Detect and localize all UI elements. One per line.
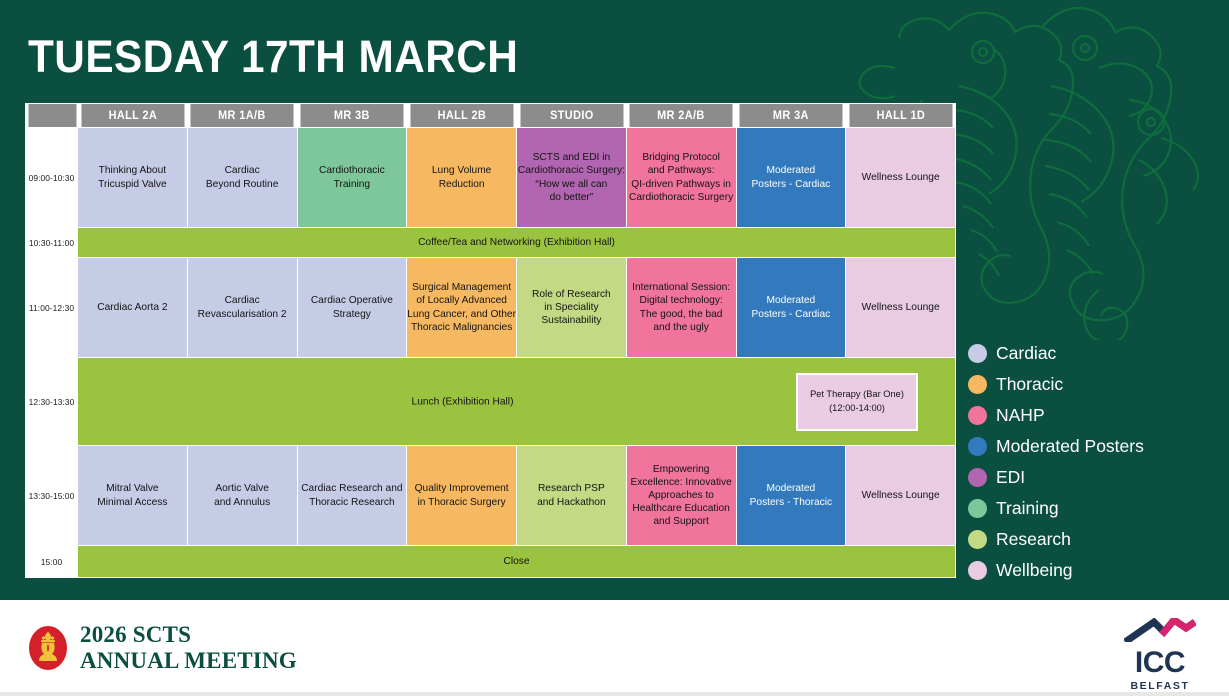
session-line: Bridging Protocol <box>627 151 736 164</box>
break-cell: Close <box>78 546 956 578</box>
session-line: and Pathways: <box>627 164 736 177</box>
session-line: Sustainability <box>517 314 626 327</box>
schedule-table: HALL 2A MR 1A/B MR 3B HALL 2B STUDIO MR … <box>25 103 956 578</box>
legend-color-swatch-icon <box>968 530 987 549</box>
room-header-hall-1d: HALL 1D <box>848 104 952 128</box>
room-header-studio: STUDIO <box>519 104 623 128</box>
schedule-row: 09:00-10:30Thinking AboutTricuspid Valve… <box>26 128 956 228</box>
legend-label: NAHP <box>996 405 1045 426</box>
scts-logo: 2026 SCTS ANNUAL MEETING <box>28 622 297 674</box>
legend-item: EDI <box>968 462 1218 493</box>
break-cell: Coffee/Tea and Networking (Exhibition Ha… <box>78 228 956 258</box>
icc-swoosh-icon <box>1124 618 1196 642</box>
session-line: of Locally Advanced <box>407 294 516 307</box>
legend-color-swatch-icon <box>968 437 987 456</box>
session-line: Strategy <box>298 308 407 321</box>
legend-label: Cardiac <box>996 343 1056 364</box>
session-line: Posters - Thoracic <box>737 496 846 509</box>
session-line: Tricuspid Valve <box>78 178 187 191</box>
time-column-header <box>27 104 76 128</box>
session-line: Surgical Management <box>407 281 516 294</box>
session-line: Revascularisation 2 <box>188 308 297 321</box>
icc-wordmark: ICC <box>1117 648 1203 678</box>
schedule-row: 15:00Close <box>26 546 956 578</box>
legend-color-swatch-icon <box>968 375 987 394</box>
session-line: Reduction <box>407 178 516 191</box>
session-line: Cardiac Research and <box>298 482 407 495</box>
session-cell[interactable]: SCTS and EDI inCardiothoracic Surgery:“H… <box>517 128 627 228</box>
session-line: Lung Volume <box>407 164 516 177</box>
session-cell[interactable]: Role of Researchin SpecialitySustainabil… <box>517 258 627 358</box>
session-line: “How we all can <box>517 178 626 191</box>
session-line: and Hackathon <box>517 496 626 509</box>
pet-therapy-box[interactable]: Pet Therapy (Bar One)(12:00-14:00) <box>796 373 918 431</box>
legend-item: Training <box>968 493 1218 524</box>
icc-belfast-logo: ICC BELFAST <box>1117 618 1203 692</box>
session-line: The good, the bad <box>627 308 736 321</box>
room-header-hall-2a: HALL 2A <box>80 104 184 128</box>
session-line: Wellness Lounge <box>846 301 955 314</box>
legend-color-swatch-icon <box>968 499 987 518</box>
session-cell[interactable]: Wellness Lounge <box>846 446 956 546</box>
pet-therapy-title: Pet Therapy (Bar One) <box>810 388 904 401</box>
legend-color-swatch-icon <box>968 468 987 487</box>
legend-item: Cardiac <box>968 338 1218 369</box>
legend-item: NAHP <box>968 400 1218 431</box>
session-line: Cardiac Operative <box>298 294 407 307</box>
session-cell[interactable]: Aortic Valveand Annulus <box>187 446 297 546</box>
session-line: Approaches to <box>627 489 736 502</box>
schedule-row: 12:30-13:30Lunch (Exhibition Hall)Pet Th… <box>26 358 956 446</box>
legend-label: Research <box>996 529 1071 550</box>
session-cell[interactable]: ModeratedPosters - Cardiac <box>736 128 846 228</box>
session-line: Wellness Lounge <box>846 171 955 184</box>
session-cell[interactable]: International Session:Digital technology… <box>626 258 736 358</box>
session-line: Moderated <box>737 482 846 495</box>
room-header-mr-3b: MR 3B <box>300 104 404 128</box>
scts-line-1: 2026 SCTS <box>80 622 297 648</box>
session-line: and Annulus <box>188 496 297 509</box>
session-line: Healthcare Education <box>627 502 736 515</box>
session-line: SCTS and EDI in <box>517 151 626 164</box>
session-line: Moderated <box>737 294 846 307</box>
session-cell[interactable]: Cardiac Aorta 2 <box>78 258 188 358</box>
legend-item: Wellbeing <box>968 555 1218 586</box>
legend-label: EDI <box>996 467 1025 488</box>
lunch-cell: Lunch (Exhibition Hall)Pet Therapy (Bar … <box>78 358 956 446</box>
session-line: Quality Improvement <box>407 482 516 495</box>
session-cell[interactable]: ModeratedPosters - Cardiac <box>736 258 846 358</box>
page-title: TUESDAY 17TH MARCH <box>28 34 518 79</box>
icc-city-label: BELFAST <box>1117 680 1203 692</box>
session-line: Lung Cancer, and Other <box>407 308 516 321</box>
session-line: Thoracic Malignancies <box>407 321 516 334</box>
legend-color-swatch-icon <box>968 344 987 363</box>
session-cell[interactable]: Mitral ValveMinimal Access <box>78 446 188 546</box>
session-line: in Thoracic Surgery <box>407 496 516 509</box>
legend-color-swatch-icon <box>968 561 987 580</box>
legend-label: Training <box>996 498 1059 519</box>
session-line: QI-driven Pathways in <box>627 178 736 191</box>
session-cell[interactable]: CardiacBeyond Routine <box>187 128 297 228</box>
session-cell[interactable]: Thinking AboutTricuspid Valve <box>78 128 188 228</box>
session-line: Empowering <box>627 463 736 476</box>
schedule-row: 11:00-12:30Cardiac Aorta 2CardiacRevascu… <box>26 258 956 358</box>
session-line: Digital technology: <box>627 294 736 307</box>
session-line: Research PSP <box>517 482 626 495</box>
time-slot-label: 13:30-15:00 <box>26 446 78 546</box>
legend-label: Wellbeing <box>996 560 1073 581</box>
page-footer: 2026 SCTS ANNUAL MEETING ICC BELFAST <box>0 600 1229 696</box>
session-line: do better” <box>517 191 626 204</box>
session-line: International Session: <box>627 281 736 294</box>
session-cell[interactable]: CardiacRevascularisation 2 <box>187 258 297 358</box>
session-cell[interactable]: Cardiac Research andThoracic Research <box>297 446 407 546</box>
session-line: in Speciality <box>517 301 626 314</box>
session-line: Posters - Cardiac <box>737 178 846 191</box>
category-legend: CardiacThoracicNAHPModerated PostersEDIT… <box>968 338 1218 586</box>
session-line: Wellness Lounge <box>846 489 955 502</box>
scts-emblem-icon <box>28 625 68 671</box>
session-line: Minimal Access <box>78 496 187 509</box>
session-cell[interactable]: Wellness Lounge <box>846 128 956 228</box>
session-line: Posters - Cardiac <box>737 308 846 321</box>
scts-wordmark: 2026 SCTS ANNUAL MEETING <box>80 622 297 674</box>
session-line: Training <box>298 178 407 191</box>
time-slot-label: 11:00-12:30 <box>26 258 78 358</box>
legend-label: Thoracic <box>996 374 1063 395</box>
session-line: Moderated <box>737 164 846 177</box>
session-line: Cardiac <box>188 294 297 307</box>
time-slot-label: 09:00-10:30 <box>26 128 78 228</box>
session-cell[interactable]: Research PSPand Hackathon <box>517 446 627 546</box>
session-cell[interactable]: CardiothoracicTraining <box>297 128 407 228</box>
room-header-mr-2ab: MR 2A/B <box>629 104 733 128</box>
legend-item: Research <box>968 524 1218 555</box>
session-cell[interactable]: Cardiac OperativeStrategy <box>297 258 407 358</box>
legend-item: Moderated Posters <box>968 431 1218 462</box>
session-line: Cardiac Aorta 2 <box>78 301 187 314</box>
room-header-hall-2b: HALL 2B <box>409 104 513 128</box>
time-slot-label: 10:30-11:00 <box>26 228 78 258</box>
session-line: Cardiac <box>188 164 297 177</box>
session-cell[interactable]: Surgical Managementof Locally AdvancedLu… <box>407 258 517 358</box>
session-cell[interactable]: Lung VolumeReduction <box>407 128 517 228</box>
session-cell[interactable]: EmpoweringExcellence: InnovativeApproach… <box>626 446 736 546</box>
session-cell[interactable]: Bridging Protocoland Pathways:QI-driven … <box>626 128 736 228</box>
session-line: Cardiothoracic Surgery <box>627 191 736 204</box>
session-line: Beyond Routine <box>188 178 297 191</box>
pet-therapy-time: (12:00-14:00) <box>829 402 885 415</box>
time-slot-label: 15:00 <box>26 546 78 578</box>
scts-line-2: ANNUAL MEETING <box>80 648 297 674</box>
schedule-page: TUESDAY 17TH MARCH HALL 2A MR 1A/B MR 3B… <box>0 0 1229 696</box>
legend-label: Moderated Posters <box>996 436 1144 457</box>
session-line: Role of Research <box>517 288 626 301</box>
legend-item: Thoracic <box>968 369 1218 400</box>
session-line: Thoracic Research <box>298 496 407 509</box>
session-cell[interactable]: Quality Improvementin Thoracic Surgery <box>407 446 517 546</box>
session-line: Aortic Valve <box>188 482 297 495</box>
session-line: and Support <box>627 515 736 528</box>
session-line: Cardiothoracic Surgery: <box>517 164 626 177</box>
session-line: and the ugly <box>627 321 736 334</box>
room-header-mr-1ab: MR 1A/B <box>190 104 294 128</box>
room-header-mr-3a: MR 3A <box>739 104 843 128</box>
schedule-body: 09:00-10:30Thinking AboutTricuspid Valve… <box>26 128 956 578</box>
session-line: Excellence: Innovative <box>627 476 736 489</box>
session-line: Mitral Valve <box>78 482 187 495</box>
schedule-row: 13:30-15:00Mitral ValveMinimal AccessAor… <box>26 446 956 546</box>
schedule-header-row: HALL 2A MR 1A/B MR 3B HALL 2B STUDIO MR … <box>26 104 956 128</box>
session-cell[interactable]: ModeratedPosters - Thoracic <box>736 446 846 546</box>
session-cell[interactable]: Wellness Lounge <box>846 258 956 358</box>
legend-color-swatch-icon <box>968 406 987 425</box>
session-line: Thinking About <box>78 164 187 177</box>
schedule-row: 10:30-11:00Coffee/Tea and Networking (Ex… <box>26 228 956 258</box>
session-line: Cardiothoracic <box>298 164 407 177</box>
